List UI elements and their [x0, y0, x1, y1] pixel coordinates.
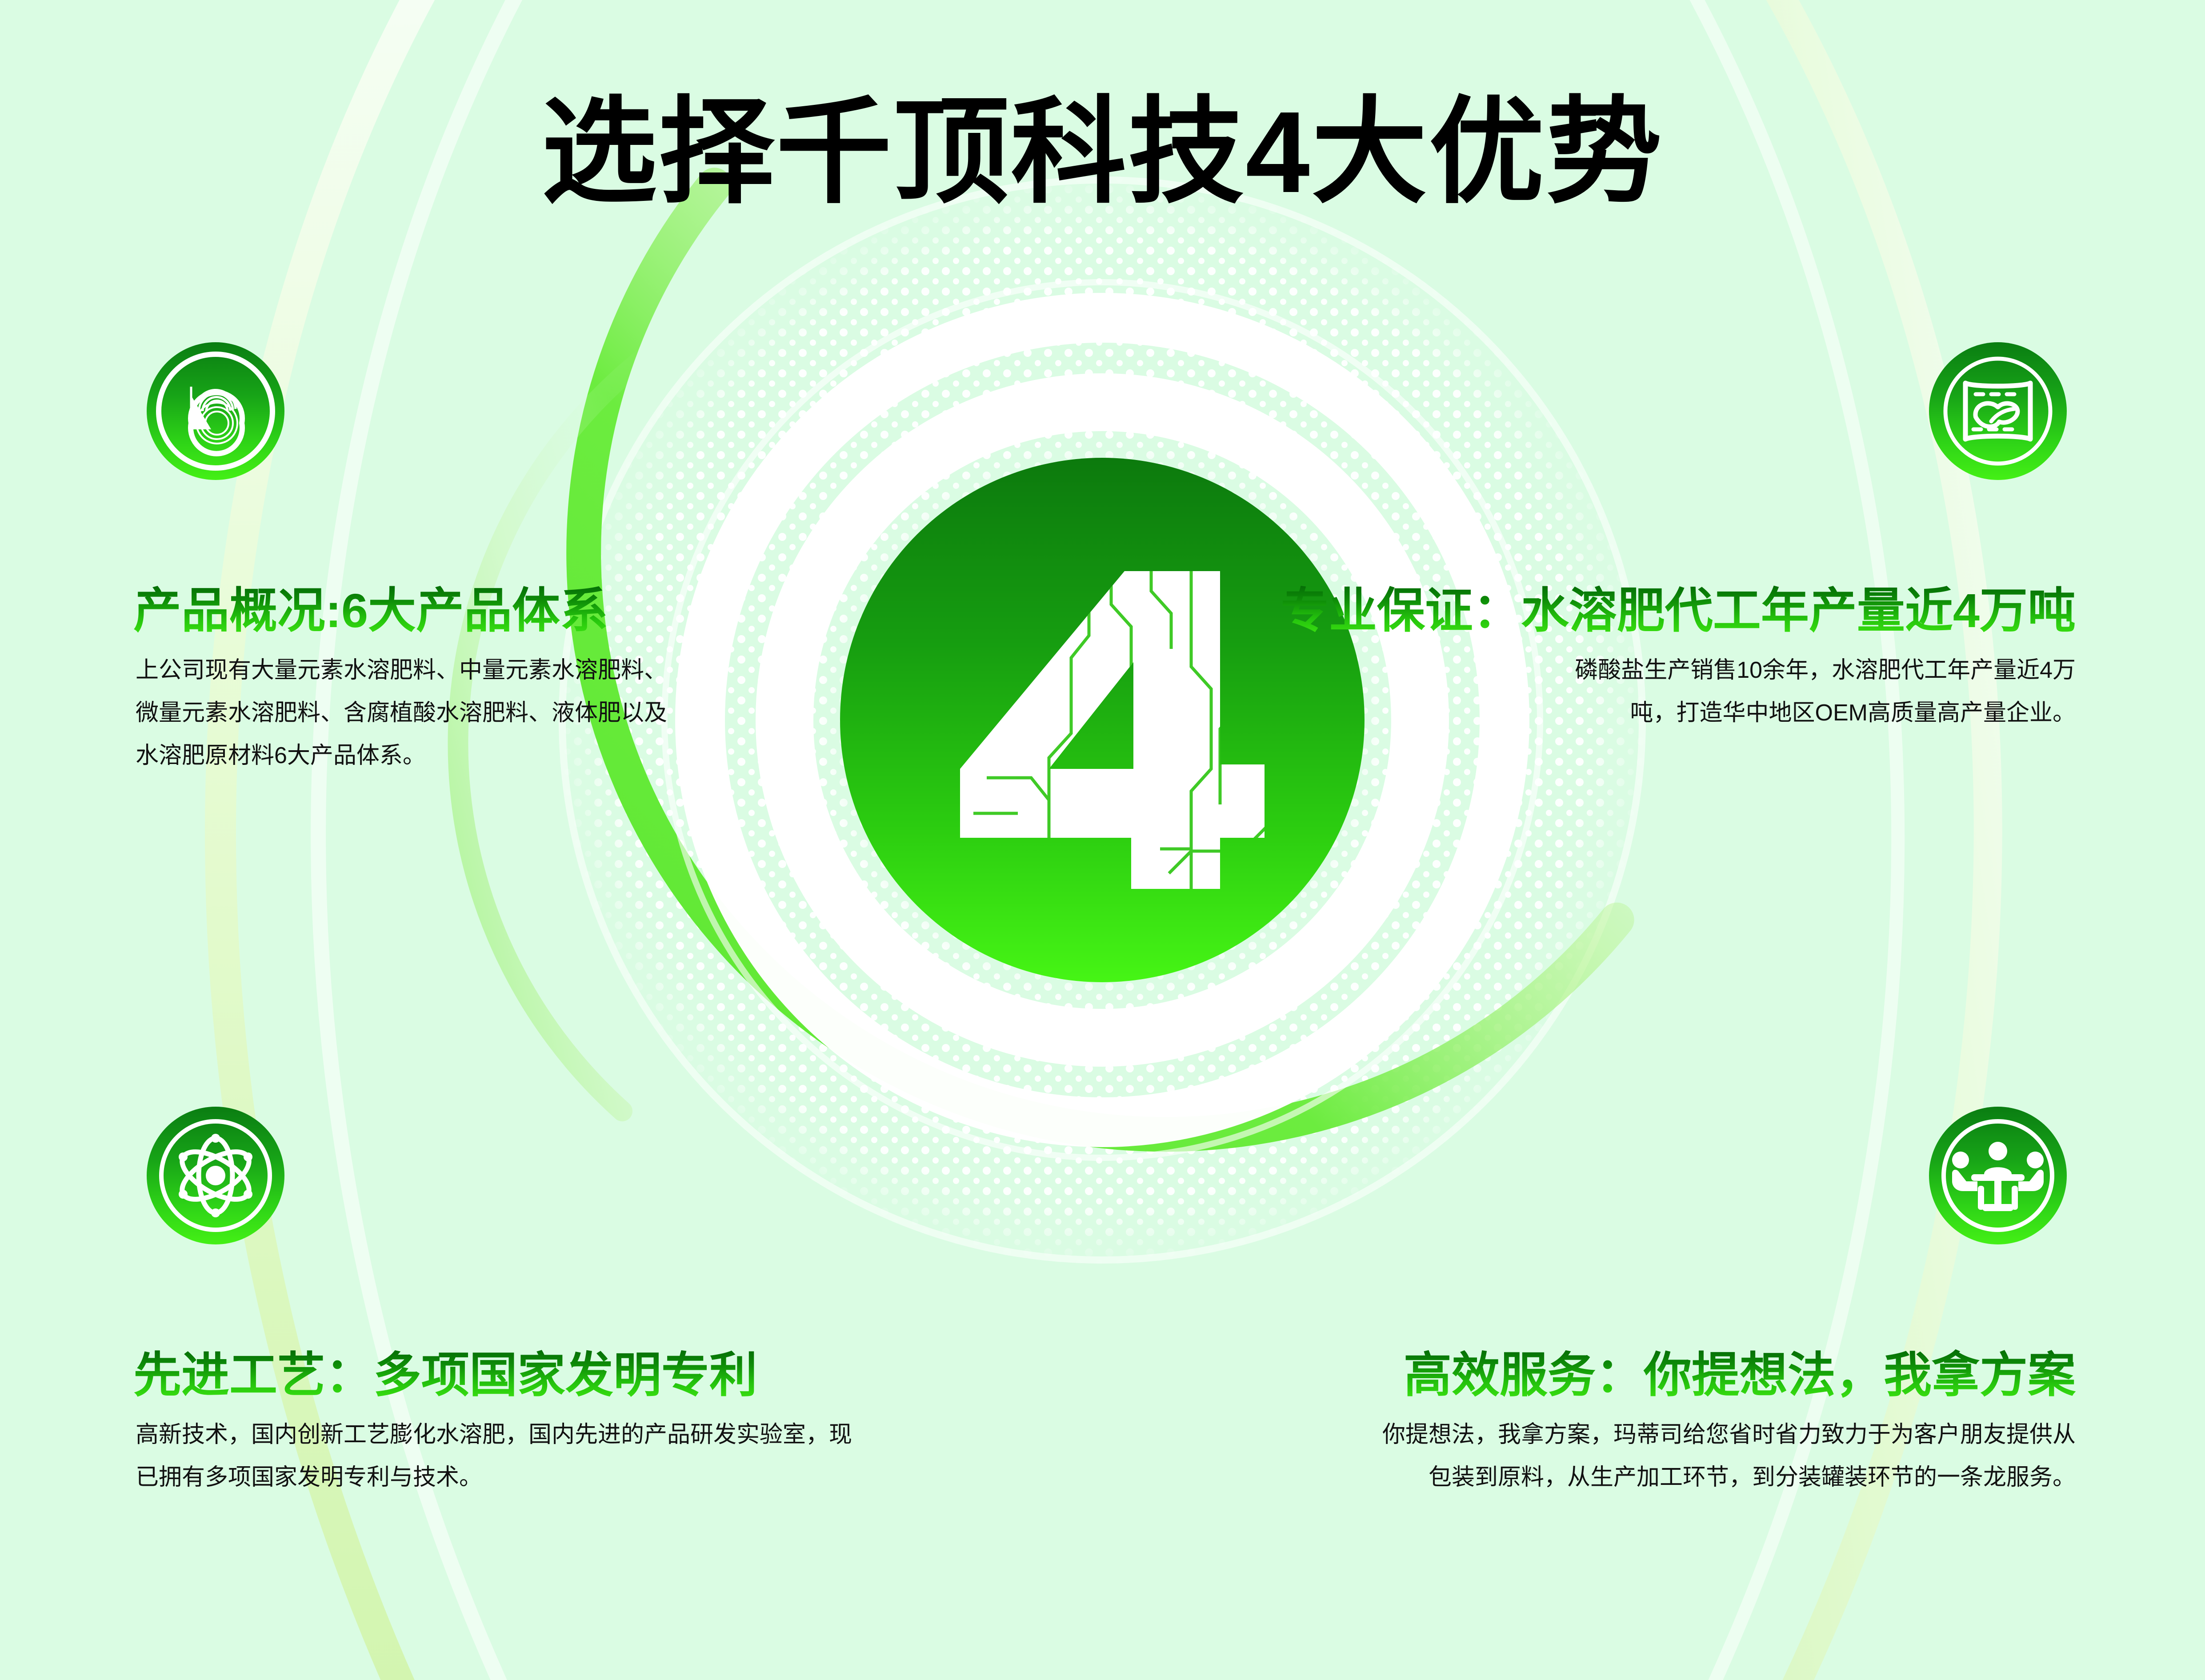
advantage-body-professional-guarantee: 磷酸盐生产销售10余年，水溶肥代工年产量近4万吨，打造华中地区OEM高质量高产量… [1529, 649, 2076, 734]
advantage-heading-professional-guarantee: 专业保证：水溶肥代工年产量近4万吨 [1281, 584, 2076, 637]
advantage-icon-product-overview [147, 342, 284, 480]
advantage-icon-efficient-service [1929, 1107, 2067, 1244]
meeting-team-icon [1929, 1107, 2067, 1244]
center-badge [569, 187, 1636, 1253]
advantage-heading-product-overview: 产品概况:6大产品体系 [133, 584, 608, 637]
infographic-canvas: 选择千顶科技4大优势 [0, 0, 2205, 1680]
fertilizer-bag-icon [1929, 342, 2067, 480]
advantage-body-advanced-process: 高新技术，国内创新工艺膨化水溶肥，国内先进的产品研发实验室，现已拥有多项国家发明… [136, 1413, 864, 1499]
advantage-icon-advanced-process [147, 1107, 284, 1244]
circuit-number-4-icon [840, 458, 1365, 982]
advantage-heading-efficient-service: 高效服务：你提想法，我拿方案 [1404, 1349, 2076, 1402]
center-number-circle [840, 458, 1365, 982]
advantage-icon-professional-guarantee [1929, 342, 2067, 480]
advantage-heading-advanced-process: 先进工艺：多项国家发明专利 [133, 1349, 757, 1402]
atom-icon [147, 1107, 284, 1244]
number-6-spiral-icon [147, 342, 284, 480]
advantage-body-product-overview: 上公司现有大量元素水溶肥料、中量元素水溶肥料、微量元素水溶肥料、含腐植酸水溶肥料… [136, 649, 669, 777]
advantage-body-efficient-service: 你提想法，我拿方案，玛蒂司给您省时省力致力于为客户朋友提供从包装到原料，从生产加… [1365, 1413, 2076, 1499]
